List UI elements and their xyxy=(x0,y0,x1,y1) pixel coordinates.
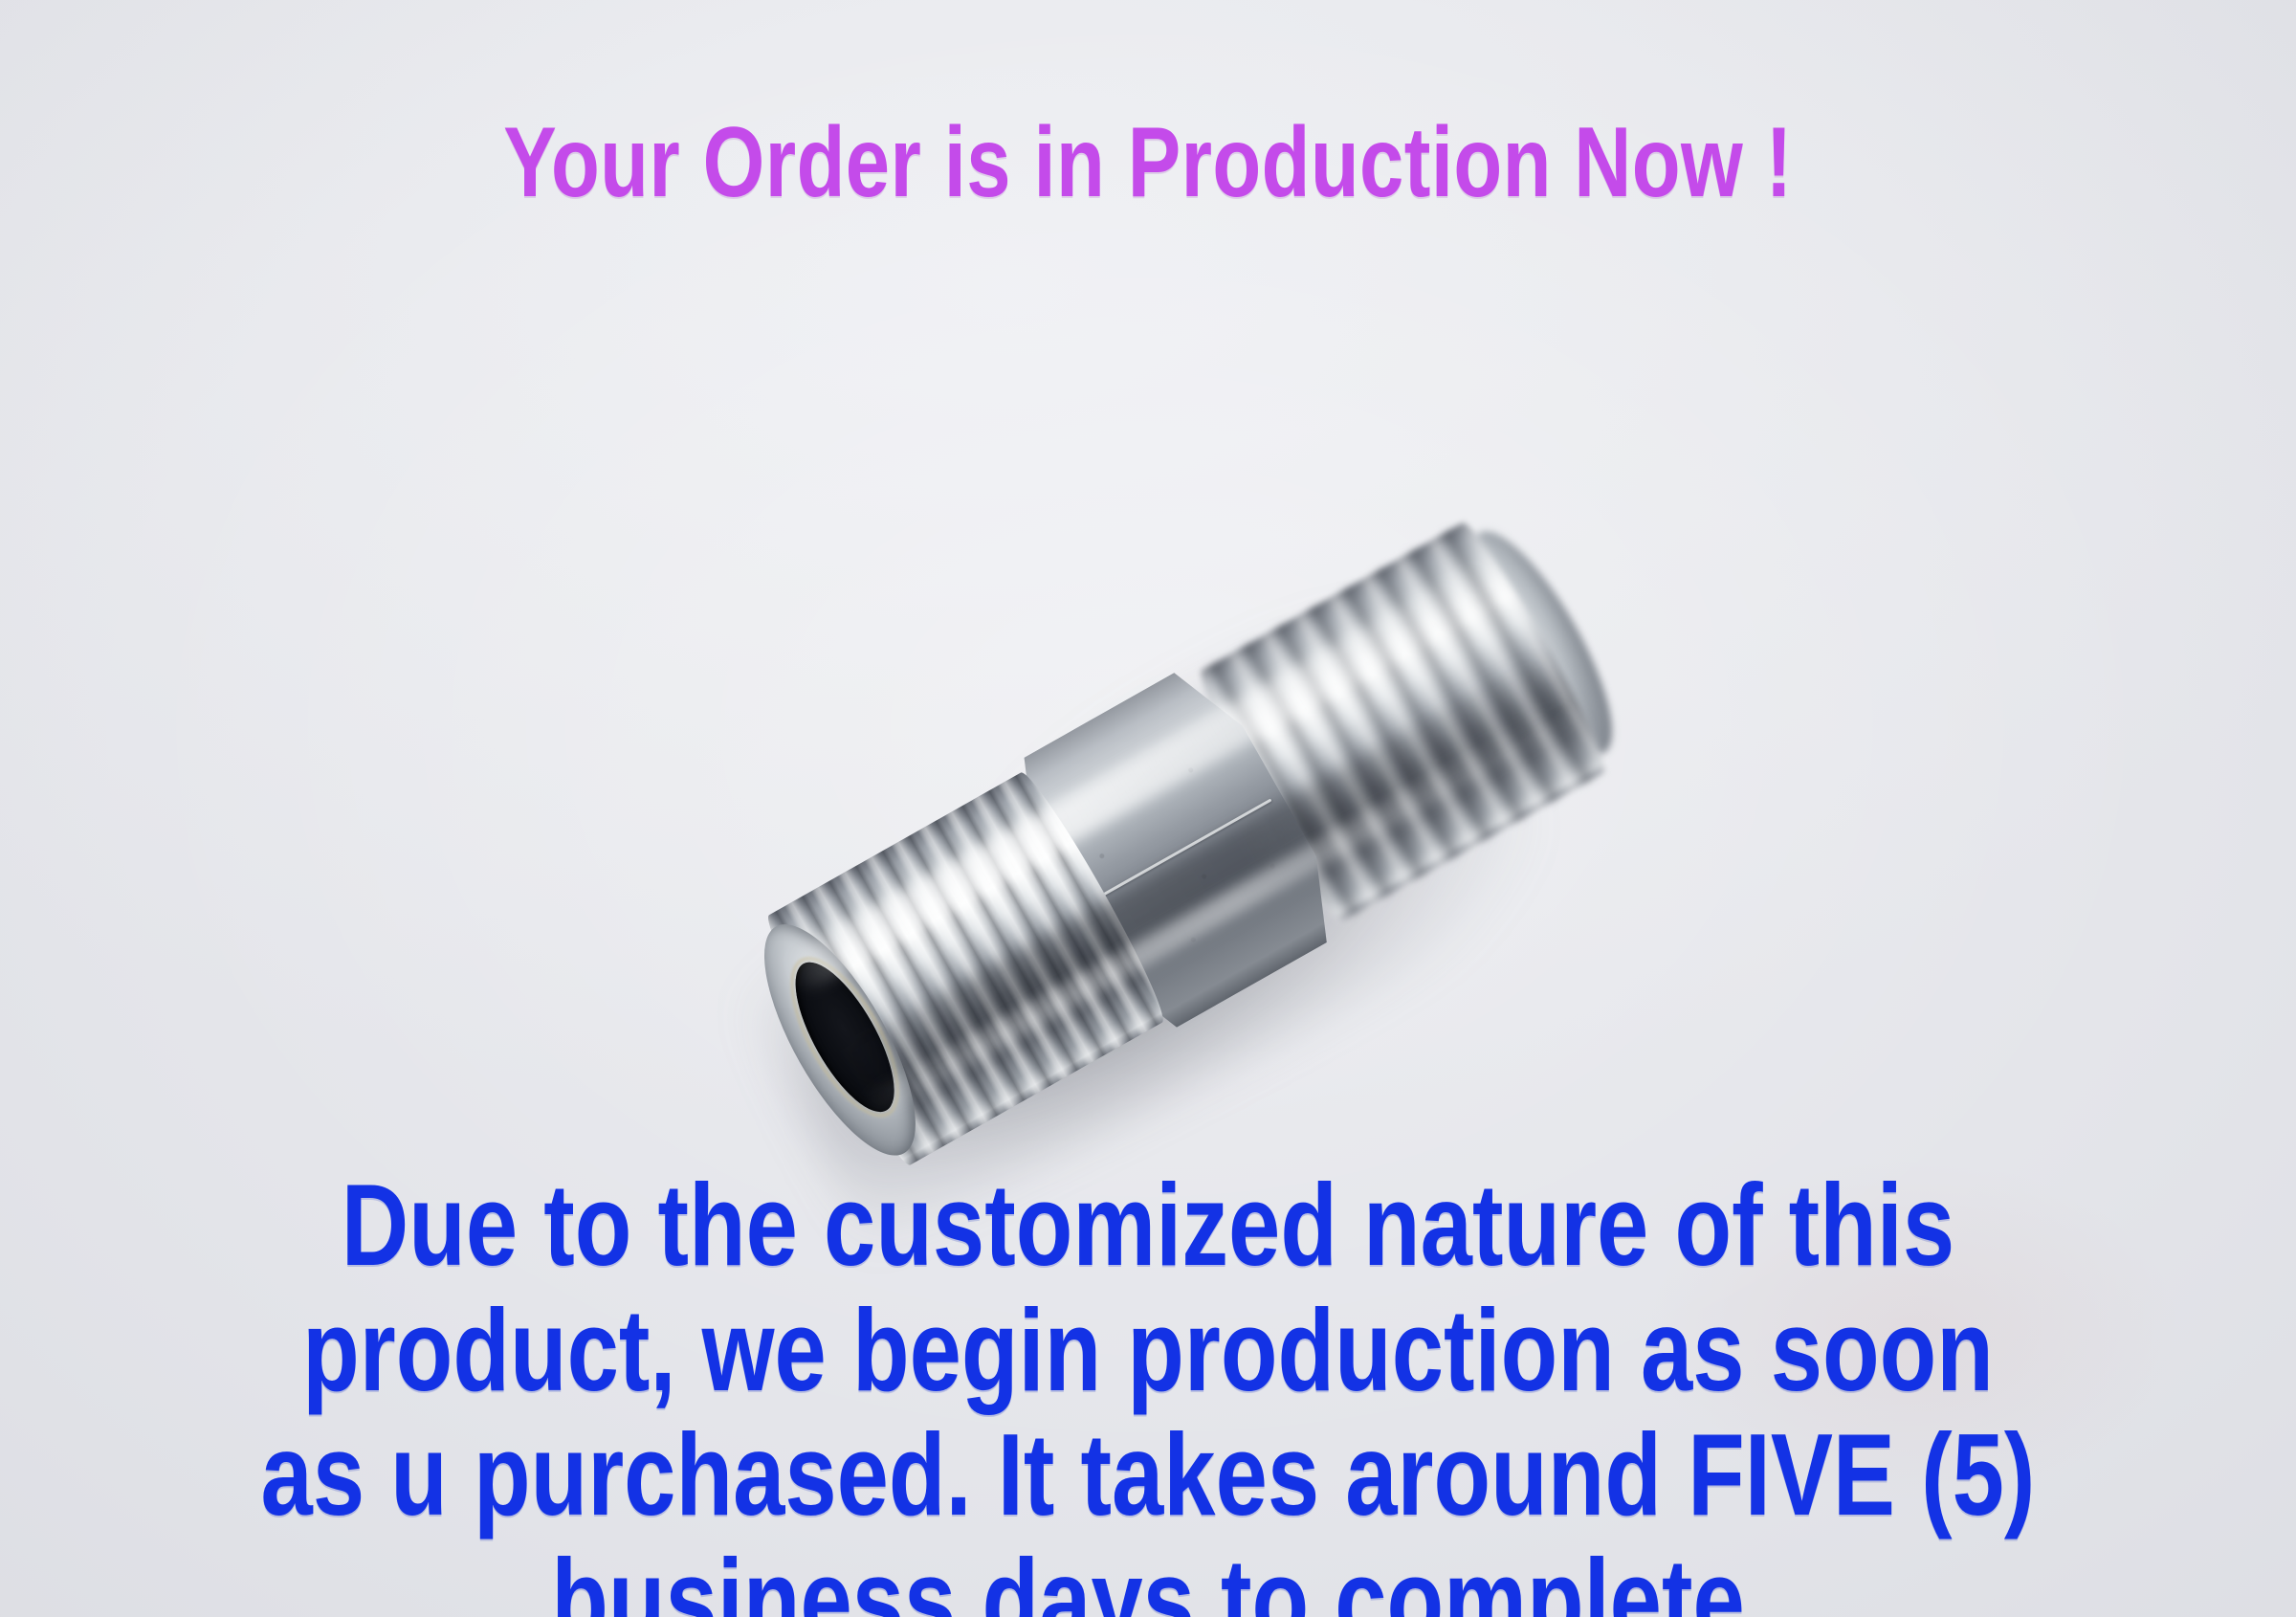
notice-line-4: business days to complete xyxy=(230,1538,2066,1617)
product-photo xyxy=(727,488,1645,1177)
notice-line-2: product, we begin production as soon xyxy=(230,1288,2066,1413)
notice-line-3: as u purchased. It takes around FIVE (5) xyxy=(230,1412,2066,1538)
pipe-nipple-graphic xyxy=(727,488,1645,1177)
banner-image: Your Order is in Production Now ! xyxy=(0,0,2296,1617)
production-notice: Due to the customized nature of this pro… xyxy=(230,1163,2066,1617)
notice-line-1: Due to the customized nature of this xyxy=(230,1163,2066,1288)
page-title: Your Order is in Production Now ! xyxy=(230,113,2066,212)
